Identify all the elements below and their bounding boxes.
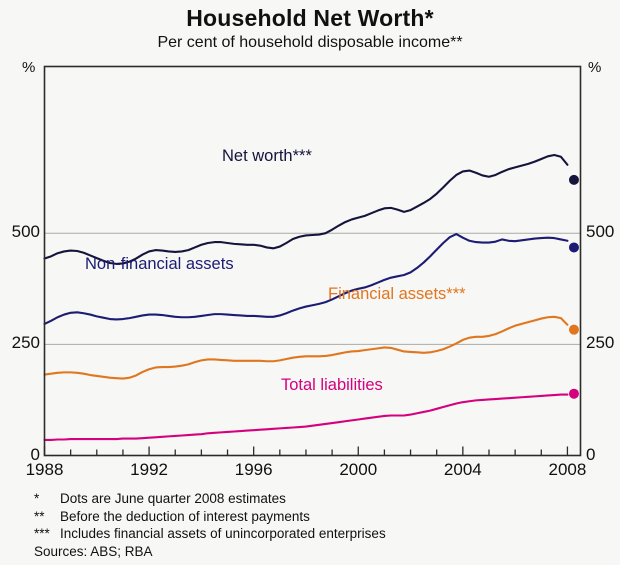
footnote-1-mark: *: [34, 490, 60, 508]
footnote-sources: Sources: ABS; RBA: [34, 543, 386, 561]
footnote-1: *Dots are June quarter 2008 estimates: [34, 490, 386, 508]
footnote-3-text: Includes financial assets of unincorpora…: [60, 526, 386, 541]
x-axis-tick-label-1992: 1992: [119, 460, 179, 480]
y-axis-tick-label-right-500: 500: [586, 222, 620, 242]
x-axis-tick-label-2008: 2008: [537, 460, 597, 480]
footnote-1-text: Dots are June quarter 2008 estimates: [60, 491, 286, 506]
footnote-2-mark: **: [34, 508, 60, 526]
footnotes: *Dots are June quarter 2008 estimates **…: [34, 490, 386, 560]
series-label-net-worth: Net worth***: [222, 147, 312, 166]
footnote-3: ***Includes financial assets of unincorp…: [34, 525, 386, 543]
y-axis-tick-label-right-250: 250: [586, 333, 620, 353]
series-lines: [45, 155, 568, 440]
series-label-non-financial-assets: Non-financial assets: [85, 255, 234, 274]
footnote-3-mark: ***: [34, 525, 60, 543]
x-axis-tick-label-1996: 1996: [224, 460, 284, 480]
chart-canvas: [0, 0, 620, 565]
x-axis-tick-label-2004: 2004: [433, 460, 493, 480]
series-end-dots: [569, 175, 579, 399]
series-label-total-liabilities: Total liabilities: [281, 376, 383, 395]
footnote-2-text: Before the deduction of interest payment…: [60, 509, 310, 524]
x-axis-tick-label-1988: 1988: [15, 460, 75, 480]
y-axis-tick-label-left-500: 500: [0, 222, 40, 242]
series-label-financial-assets: Financial assets***: [328, 285, 466, 304]
x-axis-tick-label-2000: 2000: [328, 460, 388, 480]
footnote-2: **Before the deduction of interest payme…: [34, 508, 386, 526]
chart-page: Household Net Worth* Per cent of househo…: [0, 0, 620, 565]
y-axis-tick-label-left-250: 250: [0, 333, 40, 353]
x-axis-ticks: [45, 447, 568, 456]
gridlines: [45, 233, 581, 344]
